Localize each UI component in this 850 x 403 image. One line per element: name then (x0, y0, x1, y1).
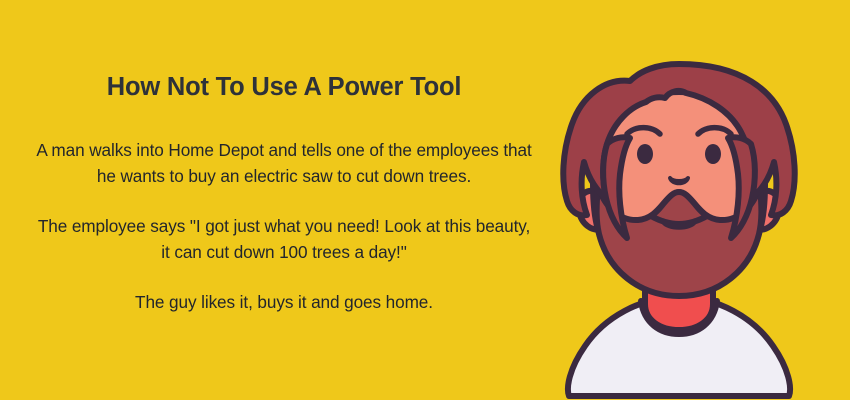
bearded-man-illustration (548, 58, 810, 403)
joke-card: How Not To Use A Power Tool A man walks … (0, 0, 850, 400)
page-title: How Not To Use A Power Tool (0, 72, 568, 103)
text-column: How Not To Use A Power Tool A man walks … (0, 0, 568, 400)
right-eye (705, 144, 721, 164)
left-eye (637, 144, 653, 164)
joke-paragraph-2: The employee says "I got just what you n… (34, 213, 534, 265)
avatar (548, 58, 810, 403)
joke-paragraph-1: A man walks into Home Depot and tells on… (34, 137, 534, 189)
joke-paragraph-3: The guy likes it, buys it and goes home. (34, 289, 534, 315)
